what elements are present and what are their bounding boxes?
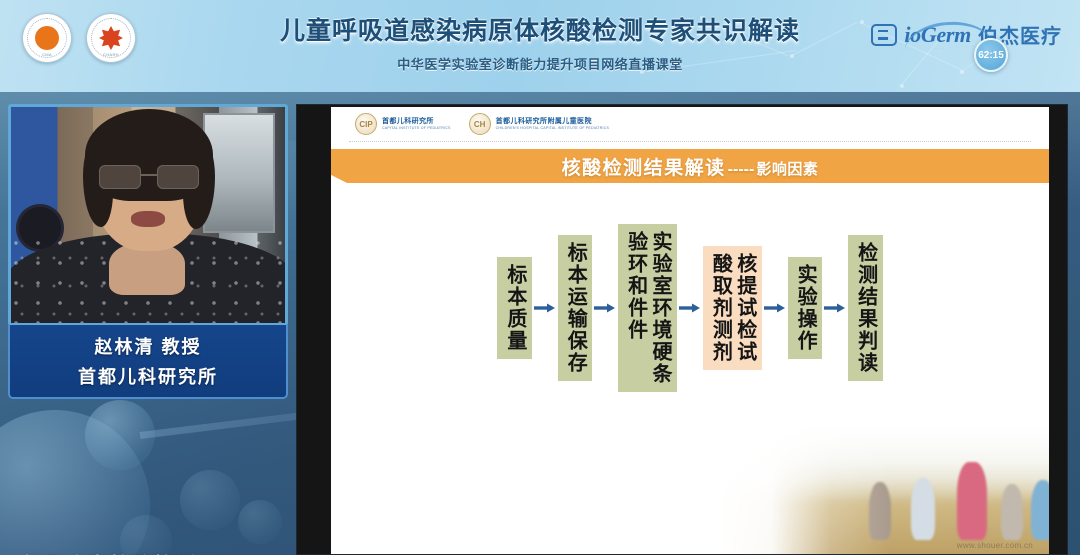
presentation-slide: CIP 首都儿科研究所 CAPITAL INSTITUTE OF PEDIATR… (331, 107, 1049, 555)
sponsor-brand: ioGerm 伯杰医疗 (871, 20, 1062, 49)
photo-watermark: www.shouer.com.cn (957, 541, 1033, 550)
flow-arrow (762, 302, 788, 314)
speaker-name: 赵林清 教授 (94, 333, 201, 359)
flow-step-lab-operation: 实验操作 (788, 257, 822, 359)
flow-arrow (677, 302, 703, 314)
flow-step-lab-environment: 实验室环境硬条验环和件件 (618, 224, 677, 392)
session-timer-badge: 62:15 (974, 38, 1008, 72)
bottom-caption: 新冠病毒核酸检测 (22, 550, 198, 555)
seal-caption-a: CMA (23, 52, 71, 57)
slide-logo-childrens-hospital: CH 首都儿科研究所附属儿童医院 CHILDREN'S HOSPITAL CAP… (469, 113, 609, 135)
flow-step-result-reading: 检测结果判读 (848, 235, 882, 381)
charh-seal-icon: CHARH (86, 13, 136, 63)
flow-step-text: 实验室环境硬条 (648, 231, 672, 385)
cip-name-cn: 首都儿科研究所 (382, 118, 451, 126)
chinese-medical-association-seal-icon: CMA (22, 13, 72, 63)
flow-step-text: 检测结果判读 (853, 242, 877, 374)
flow-step-text: 实验操作 (793, 264, 817, 352)
broadcast-header: CMA CHARH 儿童呼吸道感染病原体核酸检测专家共识解读 中华医学实验室诊断… (0, 0, 1080, 92)
flow-step-specimen-quality: 标本质量 (497, 257, 531, 359)
speaker-glasses-icon (99, 165, 199, 189)
ch-name-en: CHILDREN'S HOSPITAL CAPITAL INSTITUTE OF… (496, 126, 609, 130)
organizer-logos: CMA CHARH (22, 13, 136, 63)
slide-background-photo: www.shouer.com.cn (719, 426, 1049, 555)
flow-step-reagents: 核提试检试酸取剂测剂 (703, 246, 762, 370)
livestream-viewer: CMA CHARH 儿童呼吸道感染病原体核酸检测专家共识解读 中华医学实验室诊断… (0, 0, 1080, 555)
flow-arrow (592, 302, 618, 314)
influencing-factors-flowchart: 标本质量标本运输保存实验室环境硬条验环和件件核提试检试酸取剂测剂实验操作检测结果… (331, 203, 1049, 413)
speaker-nameplate: 赵林清 教授 首都儿科研究所 (8, 325, 288, 399)
ch-name-cn: 首都儿科研究所附属儿童医院 (496, 118, 609, 126)
slide-title-banner: 核酸检测结果解读 ----- 影响因素 (331, 149, 1049, 183)
cip-emblem-icon: CIP (355, 113, 377, 135)
cip-name-en: CAPITAL INSTITUTE OF PEDIATRICS (382, 126, 451, 130)
speaker-video-panel[interactable] (8, 104, 288, 326)
flow-step-text: 酸取剂测剂 (708, 253, 732, 363)
biogerm-logo-icon (871, 24, 897, 46)
seal-caption-b: CHARH (87, 52, 135, 57)
slide-title: 核酸检测结果解读 (562, 153, 726, 180)
presentation-stage[interactable]: CIP 首都儿科研究所 CAPITAL INSTITUTE OF PEDIATR… (296, 104, 1068, 555)
ch-emblem-icon: CH (469, 113, 491, 135)
flow-step-text: 标本质量 (502, 264, 526, 352)
flow-step-text: 核提试检试 (732, 253, 756, 363)
speaker-affiliation: 首都儿科研究所 (78, 363, 218, 389)
slide-title-suffix: 影响因素 (756, 158, 818, 179)
slide-logo-cip: CIP 首都儿科研究所 CAPITAL INSTITUTE OF PEDIATR… (355, 113, 451, 135)
slide-header-divider (349, 141, 1031, 142)
flow-step-text: 标本运输保存 (563, 242, 587, 374)
flow-step-text: 验环和件件 (623, 231, 647, 385)
flow-arrow (532, 302, 558, 314)
flow-step-specimen-transport: 标本运输保存 (558, 235, 592, 381)
slide-institution-logos: CIP 首都儿科研究所 CAPITAL INSTITUTE OF PEDIATR… (355, 113, 609, 135)
speaker-mouth (131, 211, 165, 227)
slide-title-dash: ----- (728, 161, 755, 179)
flow-arrow (822, 302, 848, 314)
